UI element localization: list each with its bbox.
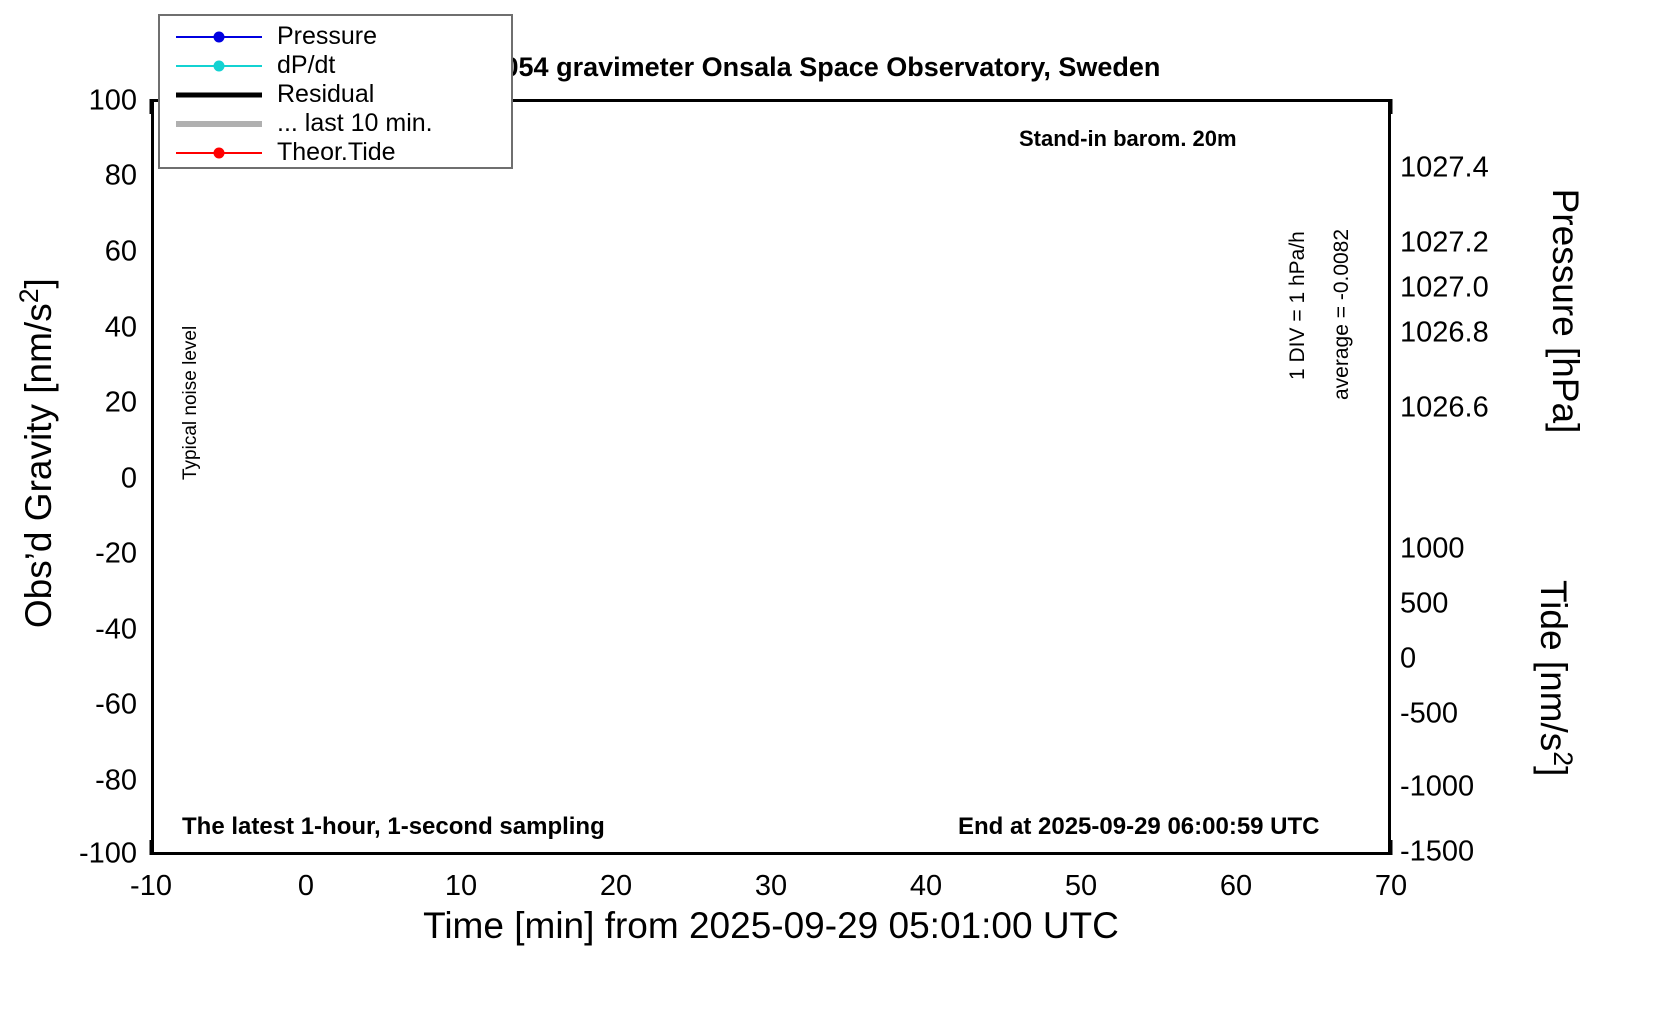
y-axis-tide-title: Tide [nm/s2] [1532, 508, 1578, 848]
x-tick: 0 [298, 870, 314, 903]
legend-item-pressure: Pressure [160, 22, 511, 51]
y-axis-left-title-sup: 2 [14, 288, 44, 303]
x-tick: -10 [130, 870, 172, 903]
y-tick-pressure: 1027.2 [1400, 227, 1489, 260]
y-tick-pressure: 1026.6 [1400, 392, 1489, 425]
y-tick-tide: 500 [1400, 588, 1448, 621]
y-tick-left: 20 [105, 387, 137, 420]
legend-item-theor-tide: Theor.Tide [160, 138, 511, 167]
y-tick-left: -80 [95, 765, 137, 798]
y-axis-tide-title-sup: 2 [1548, 751, 1578, 766]
y-axis-left-title-tail: ] [18, 278, 59, 288]
noise-level-label: Typical noise level [180, 300, 202, 480]
legend-item-residual: Residual [160, 80, 511, 109]
legend-key-pressure [176, 27, 262, 47]
legend: Pressure dP/dt Residual ... last 10 min. [158, 14, 513, 169]
legend-label-theor-tide: Theor.Tide [277, 138, 396, 167]
legend-label-dpdt: dP/dt [277, 51, 335, 80]
x-tick: 30 [755, 870, 787, 903]
legend-item-dpdt: dP/dt [160, 51, 511, 80]
x-tick: 50 [1065, 870, 1097, 903]
x-tick: 10 [445, 870, 477, 903]
y-tick-tide: -1500 [1400, 836, 1474, 869]
standin-barometer-label: Stand-in barom. 20m [1019, 126, 1237, 152]
plot-frame [151, 99, 1391, 855]
legend-key-residual [176, 85, 262, 105]
dpdt-div-scale-label: 1 DIV = 1 hPa/h [1286, 180, 1310, 380]
legend-item-last10min: ... last 10 min. [160, 109, 511, 138]
y-tick-tide: -500 [1400, 698, 1458, 731]
x-axis-title: Time [min] from 2025-09-29 05:01:00 UTC [151, 905, 1391, 947]
y-tick-tide: -1000 [1400, 771, 1474, 804]
legend-key-theor-tide [176, 143, 262, 163]
x-tick: 40 [910, 870, 942, 903]
y-tick-tide: 0 [1400, 643, 1416, 676]
y-tick-left: 60 [105, 236, 137, 269]
page-title: SCG_054 gravimeter Onsala Space Observat… [430, 52, 1430, 83]
chart-root: SCG_054 gravimeter Onsala Space Observat… [0, 0, 1660, 1020]
y-tick-left: -100 [79, 838, 137, 871]
legend-key-dpdt [176, 56, 262, 76]
y-tick-left: 100 [89, 85, 137, 118]
y-tick-pressure: 1027.0 [1400, 272, 1489, 305]
footer-end-timestamp: End at 2025-09-29 06:00:59 UTC [958, 813, 1320, 841]
footer-sampling-note: The latest 1-hour, 1-second sampling [182, 813, 605, 841]
legend-label-pressure: Pressure [277, 22, 377, 51]
y-axis-tide-title-tail: ] [1533, 766, 1574, 776]
y-tick-pressure: 1026.8 [1400, 317, 1489, 350]
y-tick-left: -60 [95, 689, 137, 722]
legend-label-last10min: ... last 10 min. [277, 109, 433, 138]
y-tick-tide: 1000 [1400, 533, 1465, 566]
y-tick-left: -40 [95, 614, 137, 647]
y-axis-left-title: Obs’d Gravity [nm/s2] [14, 173, 60, 733]
dpdt-average-label: average = -0.0082 [1330, 200, 1354, 400]
legend-key-last10min [176, 114, 262, 134]
x-tick: 70 [1375, 870, 1407, 903]
y-tick-left: 80 [105, 160, 137, 193]
legend-label-residual: Residual [277, 80, 374, 109]
y-tick-left: 0 [121, 463, 137, 496]
y-axis-pressure-title: Pressure [hPa] [1544, 131, 1586, 491]
y-tick-left: 40 [105, 312, 137, 345]
y-tick-pressure: 1027.4 [1400, 152, 1489, 185]
y-axis-left-title-main: Obs’d Gravity [nm/s [18, 303, 59, 628]
y-tick-left: -20 [95, 538, 137, 571]
x-tick: 60 [1220, 870, 1252, 903]
x-tick: 20 [600, 870, 632, 903]
y-axis-tide-title-main: Tide [nm/s [1533, 580, 1574, 751]
